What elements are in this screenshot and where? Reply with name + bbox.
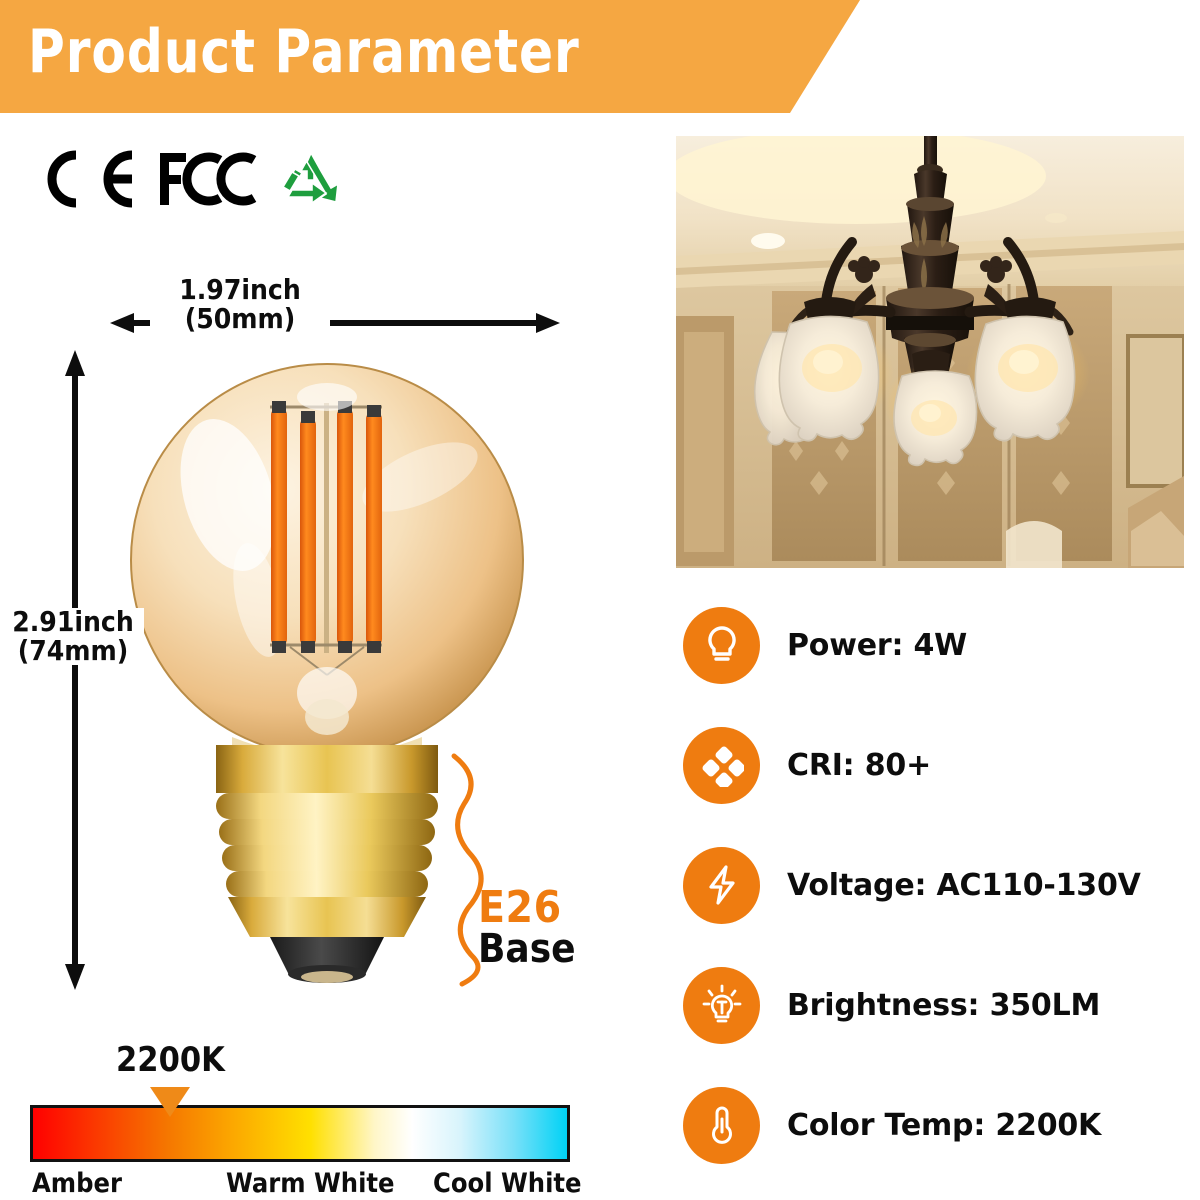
four-diamonds-icon (683, 727, 760, 804)
cct-gradient-bar (30, 1105, 570, 1162)
width-mm-value: (50mm) (150, 305, 330, 334)
spec-row-cri: CRI: 80+ (683, 705, 1183, 825)
height-dimension-arrow (55, 350, 95, 990)
spec-row-brightness: Brightness: 350LM (683, 945, 1183, 1065)
e26-base-word-label: Base (478, 929, 576, 969)
e26-code-label: E26 (478, 886, 576, 929)
bulb-icon (683, 607, 760, 684)
height-mm-value: (74mm) (2, 637, 144, 666)
specification-list: Power: 4W CRI: 80+ Voltage: AC110-130V (683, 585, 1183, 1185)
e26-base-callout: E26 Base (478, 886, 576, 969)
cct-marker-triangle-icon (150, 1087, 190, 1117)
cct-marker-value: 2200K (116, 1040, 225, 1080)
spec-label-power: Power: 4W (787, 628, 967, 663)
certification-marks (40, 150, 342, 208)
e26-screw-base (216, 745, 438, 793)
ce-mark-icon (40, 150, 136, 208)
spec-label-voltage: Voltage: AC110-130V (787, 868, 1141, 903)
cct-label-cool-white: Cool White (433, 1168, 582, 1199)
lightning-bolt-icon (683, 847, 760, 924)
cct-label-warm-white: Warm White (226, 1168, 395, 1199)
spec-row-voltage: Voltage: AC110-130V (683, 825, 1183, 945)
screw-threads (216, 793, 438, 897)
height-dimension-label: 2.91inch (74mm) (2, 608, 144, 665)
thermometer-icon (683, 1087, 760, 1164)
width-dimension-label: 1.97inch (50mm) (150, 276, 330, 333)
width-inch-value: 1.97inch (150, 276, 330, 305)
page-title: Product Parameter (28, 17, 580, 87)
fcc-mark-icon (158, 150, 258, 208)
chandelier-application-photo (676, 136, 1184, 568)
spec-label-cri: CRI: 80+ (787, 748, 931, 783)
spec-label-color-temp: Color Temp: 2200K (787, 1108, 1101, 1143)
recycle-mark-icon (280, 150, 342, 208)
height-inch-value: 2.91inch (2, 608, 144, 637)
spec-row-power: Power: 4W (683, 585, 1183, 705)
cct-label-amber: Amber (32, 1168, 122, 1199)
shining-bulb-icon (683, 967, 760, 1044)
spec-label-brightness: Brightness: 350LM (787, 988, 1100, 1023)
spec-row-color-temp: Color Temp: 2200K (683, 1065, 1183, 1185)
